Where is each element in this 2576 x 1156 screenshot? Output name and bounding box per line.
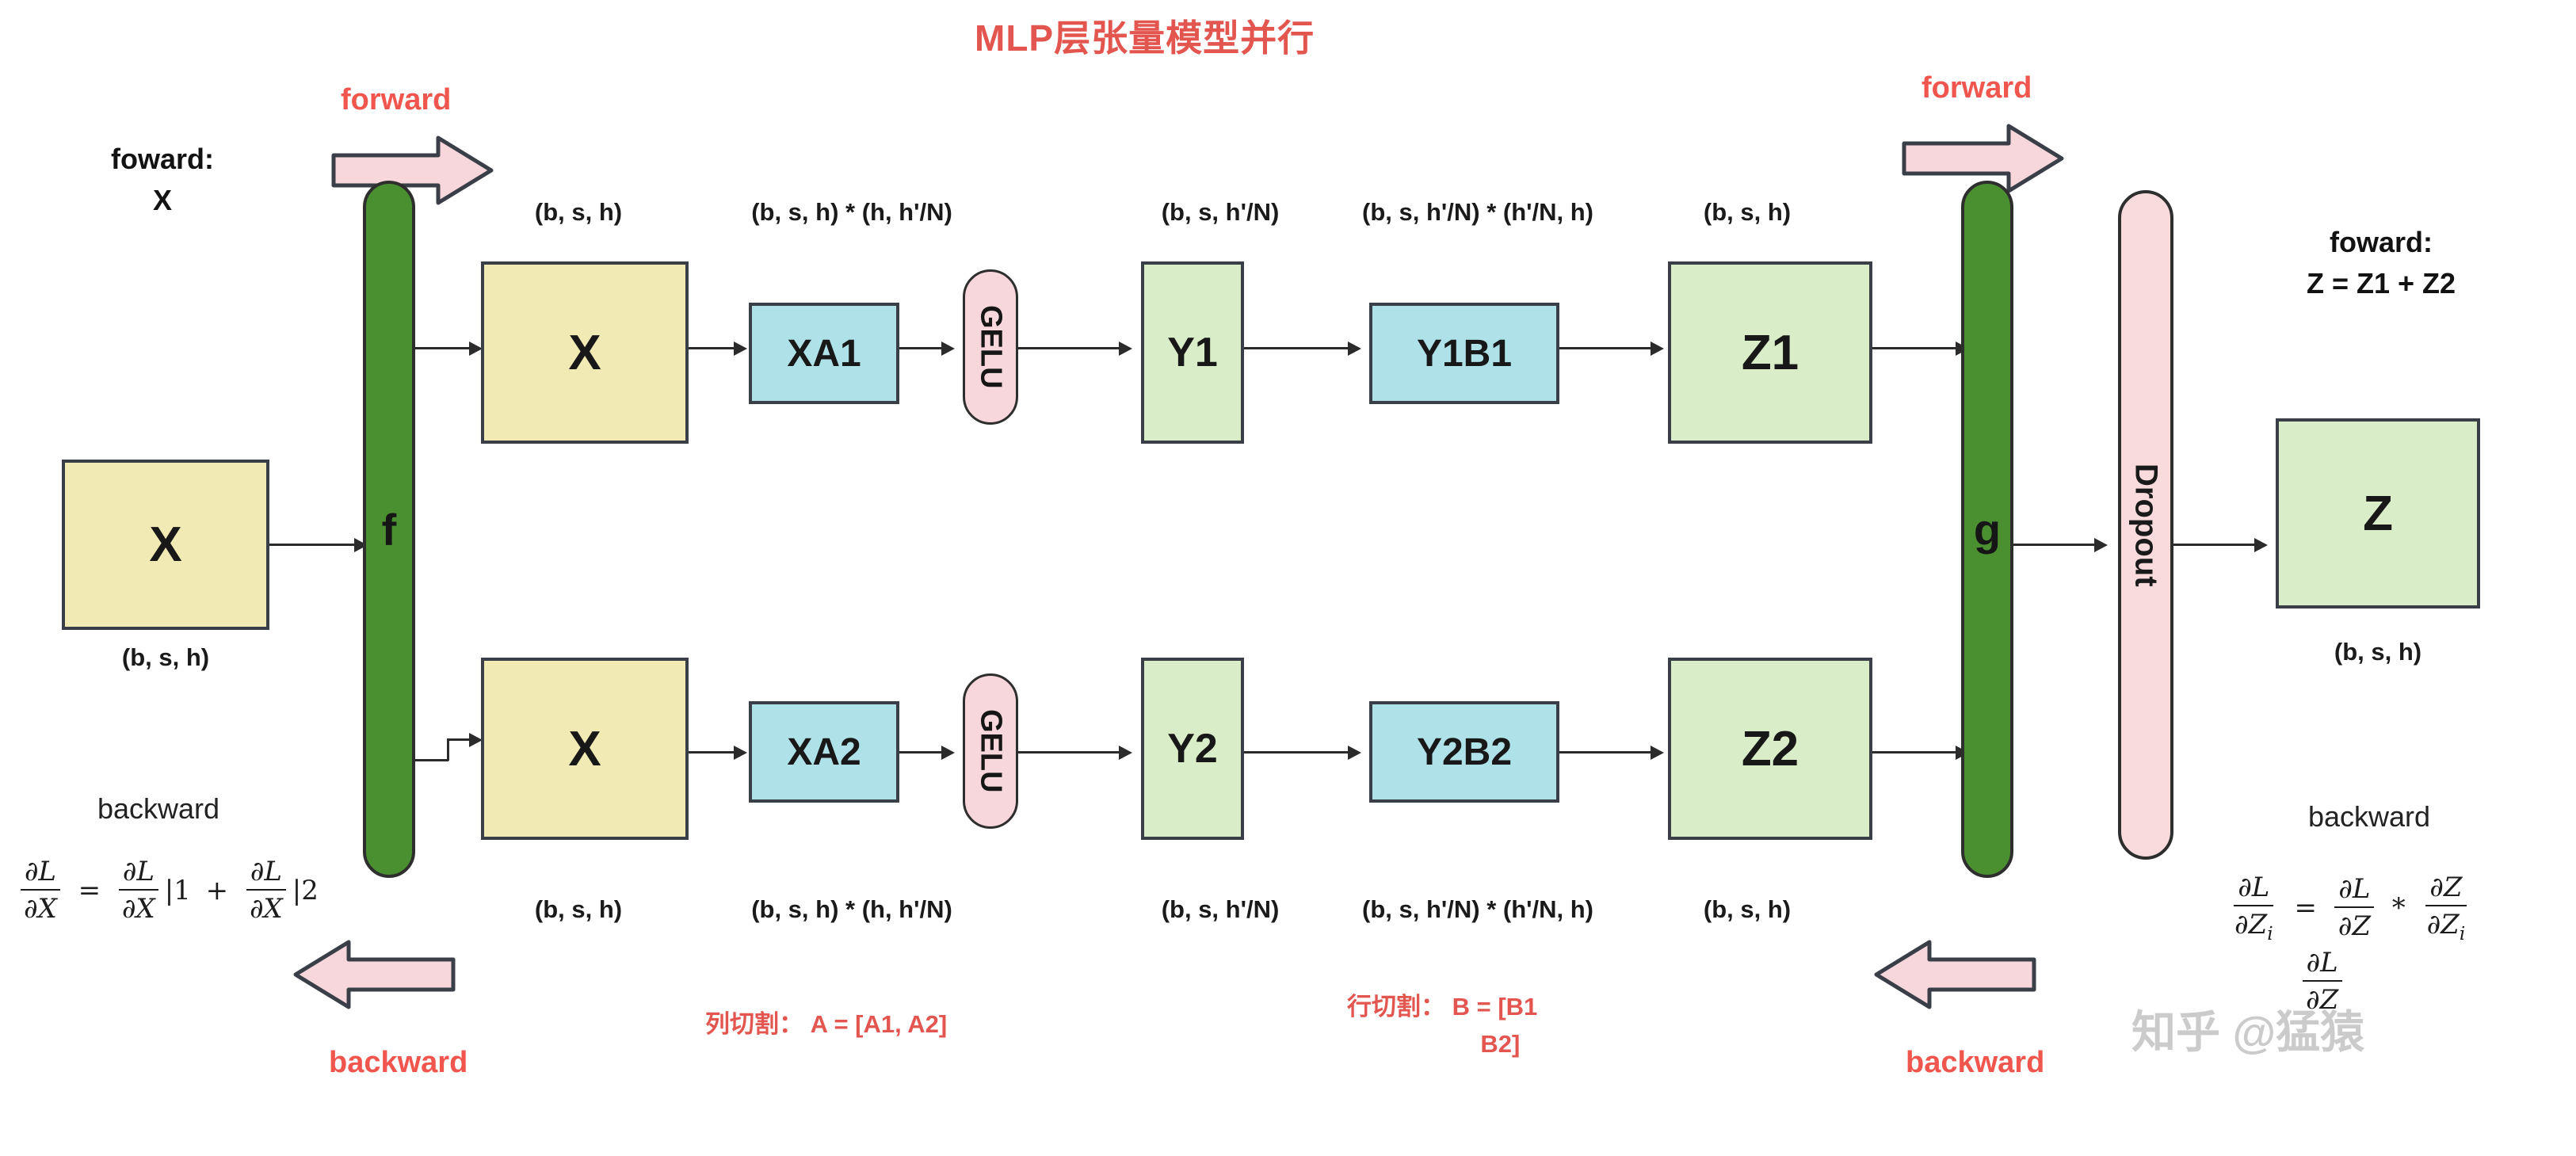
page-title: MLP层张量模型并行 <box>975 10 1315 62</box>
column-split-note: 列切割： A = [A1, A2] <box>705 1006 947 1043</box>
dim-top-1: (b, s, h) <box>475 198 681 227</box>
dim-top-3: (b, s, h'/N) <box>1105 198 1335 227</box>
left-backward-formula: ∂L∂X = ∂L∂X|1 + ∂L∂X|2 <box>16 856 320 925</box>
row-split-note-line2: B2] <box>1347 1026 1537 1063</box>
bottom-gelu-pill: GELU <box>963 673 1018 829</box>
bottom-gelu-label: GELU <box>974 709 1008 793</box>
dim-top-2: (b, s, h) * (h, h'/N) <box>717 198 987 227</box>
dim-top-5: (b, s, h) <box>1644 198 1850 227</box>
dim-bottom-4: (b, s, h'/N) * (h'/N, h) <box>1319 895 1636 924</box>
top-gelu-label: GELU <box>974 305 1008 389</box>
bottom-x-box: X <box>481 658 689 840</box>
output-z-box: Z <box>2276 418 2480 609</box>
output-z-dim-label: (b, s, h) <box>2276 638 2480 666</box>
bottom-y2-box: Y2 <box>1141 658 1244 840</box>
left-forward-label: forward <box>341 83 451 117</box>
top-y1b1-box: Y1B1 <box>1369 303 1559 404</box>
dim-bottom-3: (b, s, h'/N) <box>1105 895 1335 924</box>
left-forward-note-line1: foward: <box>87 139 238 180</box>
dim-top-4: (b, s, h'/N) * (h'/N, h) <box>1319 198 1636 227</box>
top-gelu-pill: GELU <box>963 269 1018 425</box>
dropout-bar: Dropout <box>2118 190 2173 860</box>
g-allreduce-bar: g <box>1961 181 2013 878</box>
diagram-canvas: MLP层张量模型并行 forward foward: X X (b, s, h)… <box>0 0 2576 1156</box>
left-backward-label: backward <box>329 1046 467 1080</box>
right-forward-note-line1: foward: <box>2242 222 2520 263</box>
row-split-note: 行切割： B = [B1 B2] <box>1347 989 1537 1063</box>
bottom-z2-box: Z2 <box>1668 658 1872 840</box>
watermark: 知乎 @猛猿 <box>2131 997 2364 1061</box>
left-backward-heading: backward <box>32 792 285 826</box>
right-forward-note: foward: Z = Z1 + Z2 <box>2242 222 2520 304</box>
dim-bottom-1: (b, s, h) <box>475 895 681 924</box>
bottom-xa2-box: XA2 <box>749 701 899 803</box>
top-y1-box: Y1 <box>1141 261 1244 444</box>
row-split-note-line1: 行切割： B = [B1 <box>1347 989 1537 1026</box>
dim-bottom-5: (b, s, h) <box>1644 895 1850 924</box>
top-x-box: X <box>481 261 689 444</box>
bottom-y2b2-box: Y2B2 <box>1369 701 1559 803</box>
f-allreduce-bar: f <box>363 181 415 878</box>
dropout-label: Dropout <box>2128 464 2164 587</box>
top-z1-box: Z1 <box>1668 261 1872 444</box>
input-x-box: X <box>62 460 269 630</box>
left-backward-block-arrow-icon <box>293 939 456 1010</box>
right-backward-heading: backward <box>2242 800 2496 834</box>
left-forward-note-line2: X <box>87 180 238 221</box>
dim-bottom-2: (b, s, h) * (h, h'/N) <box>717 895 987 924</box>
top-xa1-box: XA1 <box>749 303 899 404</box>
input-x-dim-label: (b, s, h) <box>62 643 269 672</box>
right-forward-note-line2: Z = Z1 + Z2 <box>2242 263 2520 304</box>
left-forward-note: foward: X <box>87 139 238 221</box>
right-backward-block-arrow-icon <box>1874 939 2036 1010</box>
right-backward-label: backward <box>1906 1046 2044 1080</box>
right-forward-label: forward <box>1922 71 2032 105</box>
right-backward-formula: ∂L∂Zi = ∂L∂Z * ∂Z∂Zi <box>2227 872 2473 944</box>
